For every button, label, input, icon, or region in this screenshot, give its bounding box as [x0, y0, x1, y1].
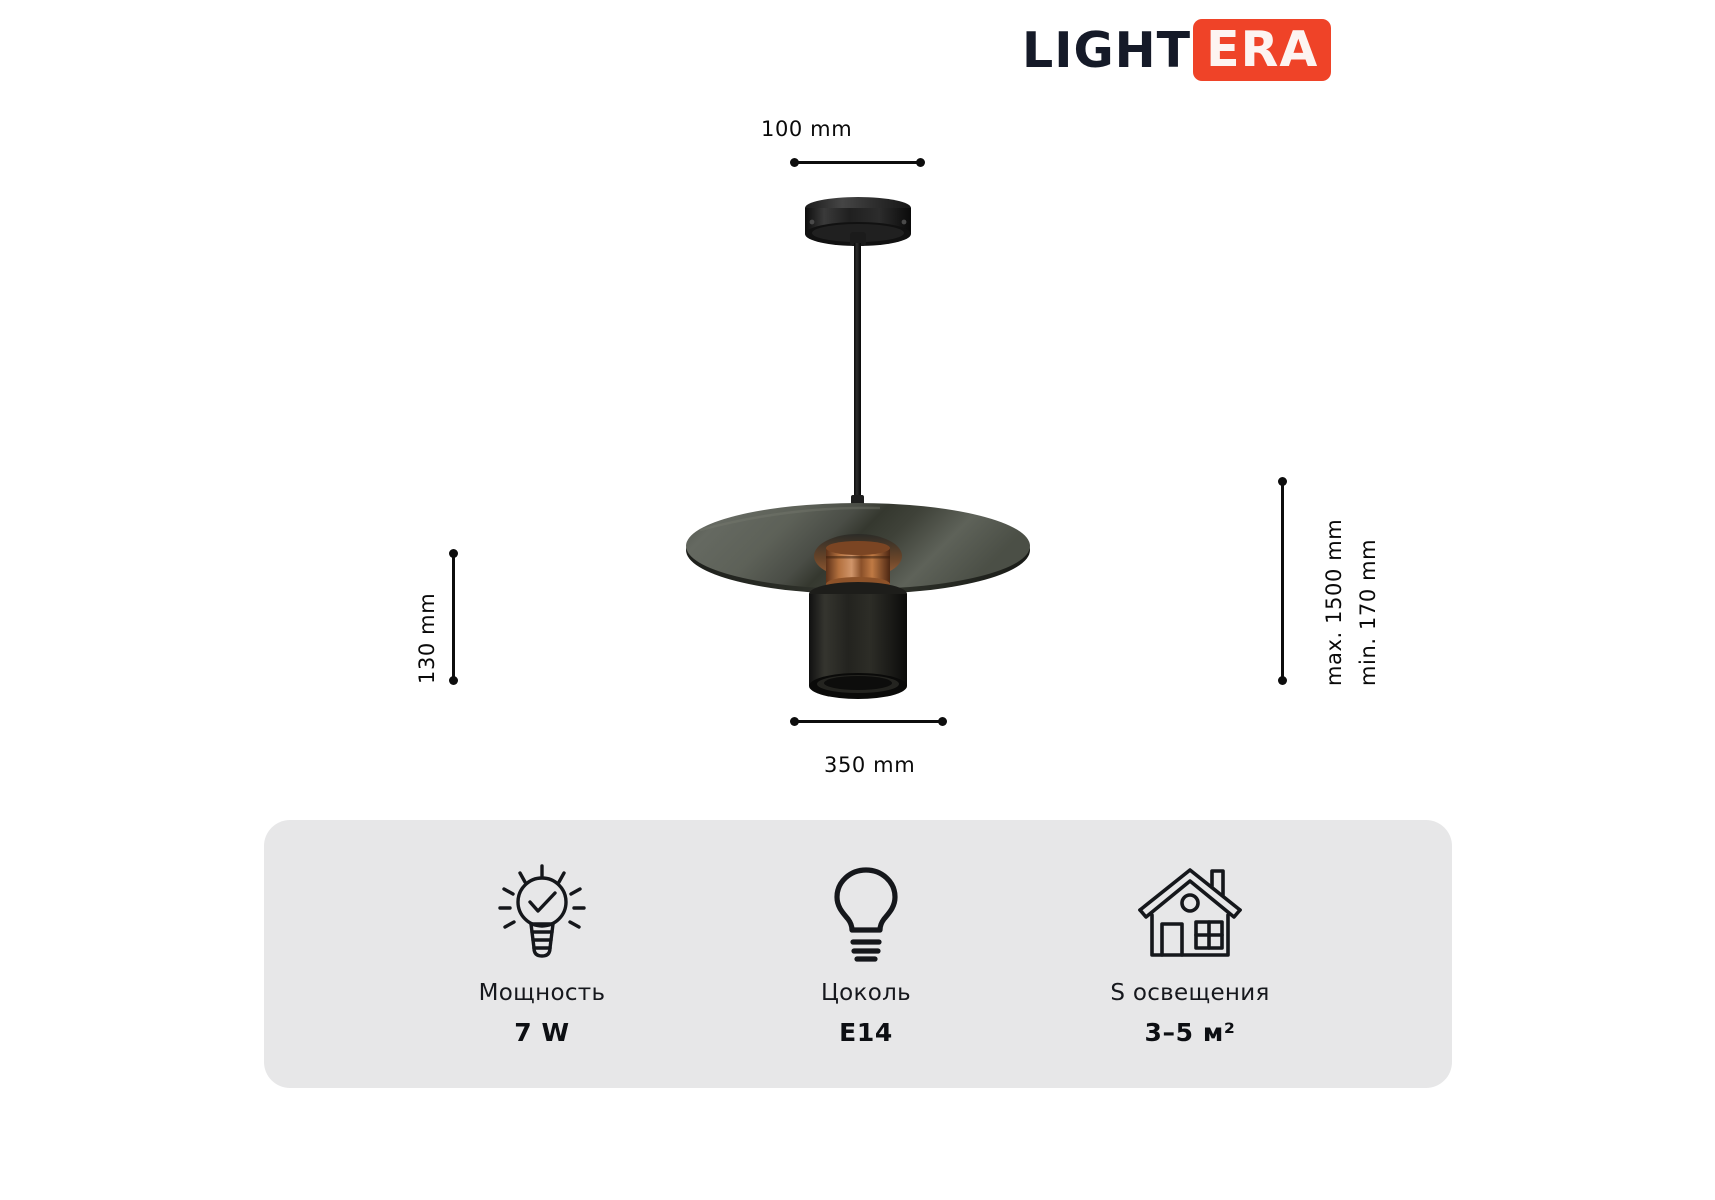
dimension-label-canopy-width: 100 mm: [761, 117, 852, 141]
dimension-label-shade-width: 350 mm: [824, 753, 915, 777]
spec-label-socket: Цоколь: [821, 980, 911, 1006]
spec-value-power: 7 W: [514, 1018, 569, 1047]
spec-item-power: Мощность 7 W: [397, 862, 687, 1047]
dimension-label-suspension-max: max. 1500 mm: [1322, 519, 1346, 686]
dimension-label-fixture-height: 130 mm: [415, 593, 439, 684]
spec-item-area: S освещения 3–5 м²: [1045, 862, 1335, 1047]
ceiling-canopy: [805, 197, 911, 246]
bulb-check-icon: [494, 862, 590, 966]
spec-value-area: 3–5 м²: [1145, 1018, 1236, 1047]
dimension-line-suspension: [1281, 478, 1284, 684]
product-spec-sheet: LIGHT ERA: [0, 0, 1715, 1200]
bulb-icon: [825, 862, 907, 966]
dimension-line-canopy-width: [791, 161, 924, 164]
dimension-line-shade-width: [791, 720, 946, 723]
specifications-panel: Мощность 7 W Цоколь E14: [264, 820, 1452, 1088]
dimension-label-suspension-min: min. 170 mm: [1356, 539, 1380, 686]
spec-value-socket: E14: [839, 1018, 893, 1047]
spec-item-socket: Цоколь E14: [721, 862, 1011, 1047]
spec-label-power: Мощность: [479, 980, 606, 1006]
spec-label-area: S освещения: [1110, 980, 1269, 1006]
cylinder-shade: [809, 582, 907, 699]
house-icon: [1136, 862, 1244, 966]
dimension-line-fixture-height: [452, 550, 455, 684]
suspension-cable: [854, 243, 861, 505]
